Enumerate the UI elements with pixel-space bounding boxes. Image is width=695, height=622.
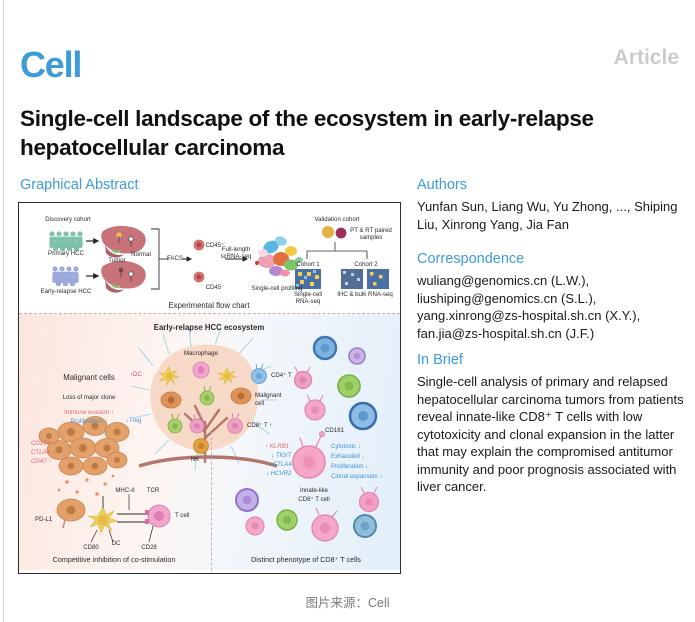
graphical-abstract-figure: Discovery cohort Validation cohort Prima…: [18, 202, 401, 574]
gene-label-ctla4: CTLA4 ↑: [31, 449, 55, 457]
flow-label-cohort1-method-line2: RNA-seq: [296, 298, 321, 306]
flow-label-cd45-negative: CD45⁻: [206, 284, 225, 292]
gene-label-klrb1: ↑ KLRB1: [265, 443, 289, 451]
gene-label-cd47: CD47 ↑: [31, 458, 51, 466]
t-cell-label: T cell: [175, 512, 189, 520]
in-brief-text: Single-cell analysis of primary and rela…: [417, 373, 685, 496]
malignant-cells-heading: Malignant cells: [63, 374, 115, 382]
flow-label-primary-hcc: Primary HCC: [48, 250, 84, 258]
malignant-cell-label-line2: cell: [255, 400, 264, 408]
phenotype-exhausted: Exhausted ↓: [331, 453, 365, 461]
cd161-label: CD161: [325, 427, 344, 435]
article-type-label: Article: [614, 46, 679, 70]
journal-brand-logo: Cell: [20, 46, 81, 84]
ecosystem-title: Early-relapse HCC ecosystem: [154, 324, 265, 332]
flow-label-validation-cohort: Validation cohort: [315, 216, 360, 224]
flow-chart-panel: Discovery cohort Validation cohort Prima…: [19, 203, 400, 313]
ecosystem-panel: Early-relapse HCC ecosystem Malignant ce…: [19, 314, 400, 570]
in-brief-heading: In Brief: [417, 352, 463, 368]
authors-heading: Authors: [417, 177, 467, 193]
ecosystem-caption-right: Distinct phenotype of CD8⁺ T cells: [251, 555, 361, 564]
flow-label-early-relapse-hcc: Early-relapse HCC: [41, 288, 92, 296]
correspondence-emails: wuliang@genomics.cn (L.W.), liushiping@g…: [417, 272, 689, 342]
dc-label: DC: [112, 540, 121, 548]
page-left-rule: [3, 0, 4, 622]
cd28-label: CD28: [141, 544, 157, 552]
proliferation-label: Proliferation ↓: [70, 418, 107, 426]
dc-up-label: ↑DC: [130, 371, 142, 379]
loss-of-major-clone-label: Loss of major clone: [63, 394, 116, 402]
page-root: Cell Article Single-cell landscape of th…: [0, 0, 695, 622]
page-title: Single-cell landscape of the ecosystem i…: [20, 104, 620, 162]
cd8-t-up-label: CD8⁺ T ↑: [247, 422, 272, 430]
phenotype-clonal-expansion: Clonal expansion ↓: [331, 473, 383, 481]
flow-label-paired-samples-line2: samples: [360, 234, 383, 242]
flow-label-cohort-2: Cohort 2: [354, 261, 377, 269]
gene-label-cd274: CD274 ↑: [31, 440, 55, 448]
flow-chart-caption: Experimental flow chart: [168, 302, 249, 310]
pd-l1-label: PD-L1: [35, 516, 52, 524]
treg-down-label: ↓Treg: [126, 417, 141, 425]
cd4-t-label: CD4⁺ T: [271, 372, 292, 380]
tcr-label: TCR: [147, 487, 160, 495]
image-source-note: 图片来源：Cell: [0, 592, 695, 611]
innate-like-label-line1: Innate-like: [300, 487, 328, 495]
gene-label-tigit: ↓ TIGIT: [271, 452, 291, 460]
nk-label: NK: [191, 456, 199, 464]
flow-label-cohort2-method: IHC & bulk RNA-seq: [337, 291, 393, 299]
flow-label-cohort-1: Cohort 1: [296, 261, 319, 269]
cd80-label: CD80: [83, 544, 99, 552]
ecosystem-vertical-divider: [211, 432, 212, 574]
phenotype-cytotoxic: Cytotoxic ↓: [331, 443, 361, 451]
flow-label-facs: FACS: [167, 255, 183, 263]
flow-label-discovery-cohort: Discovery cohort: [45, 216, 90, 224]
flow-label-tumor: Tumor: [108, 257, 125, 265]
flow-label-seq-method-line2: scRNA-seq: [221, 253, 252, 261]
graphical-abstract-heading: Graphical Abstract: [20, 177, 138, 193]
gene-label-hcvr2: ↓ HCVR2: [266, 470, 291, 478]
innate-like-label-line2: CD8⁺ T cell: [298, 496, 329, 504]
macrophage-label: Macrophage: [184, 350, 218, 358]
gene-label-ctla4-right: ↓ CTLA4: [268, 461, 292, 469]
flow-label-normal: Normal: [131, 251, 151, 259]
correspondence-heading: Correspondence: [417, 251, 524, 267]
phenotype-proliferation: Proliferation ↓: [331, 463, 368, 471]
immune-evasion-label: Immune evasion ↑: [64, 409, 113, 417]
ecosystem-caption-left: Competitive inhibition of co-stimulation: [53, 555, 176, 564]
malignant-cell-label-line1: Malignant: [255, 392, 281, 400]
mhc-ii-label: MHC-II: [115, 487, 134, 495]
authors-list: Yunfan Sun, Liang Wu, Yu Zhong, ..., Shi…: [417, 198, 685, 233]
